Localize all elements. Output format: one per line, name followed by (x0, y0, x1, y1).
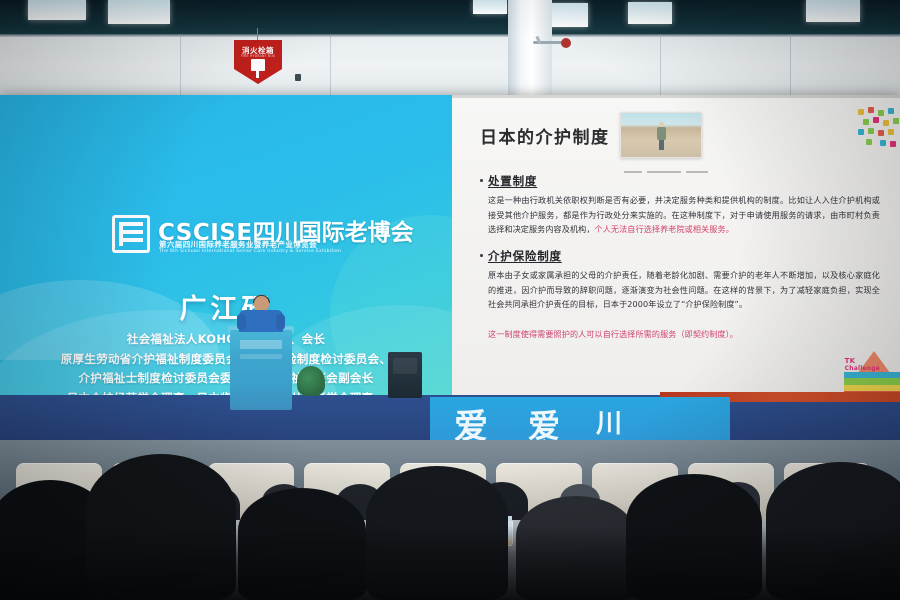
speaker-titles-list: 社会福祉法人KOHOEN创始人、会长 原厚生劳动省介护福祉制度委员会、介护保险制… (6, 330, 446, 395)
sign-hanging-wire (257, 28, 258, 42)
tk-challenge-label: TK Challenge (845, 357, 880, 373)
cscise-logo-mark-icon (112, 215, 150, 253)
foreground-attendee (626, 474, 762, 600)
foreground-attendee (366, 466, 508, 600)
cscise-logo: CSCISE四川国际老博会 第六届四川国际养老服务业暨养老产业博览会 The 6… (112, 213, 362, 259)
presenter-arm (237, 314, 246, 330)
section-2-body-text: 原本由子女或家属承担的父母的介护责任，随着老龄化加剧、需要介护的老年人不断增加，… (488, 270, 880, 309)
section-2-highlight: 这一制度使得需要照护的人可以自行选择所需的服务（即契约制度）。 (488, 329, 738, 339)
tk-brand-line-1: TK (845, 357, 880, 365)
podium-front-plate (240, 340, 282, 349)
tk-brand-line-2: Challenge (845, 365, 880, 373)
wall-device-box (295, 74, 301, 81)
section-2-body: 原本由子女或家属承担的父母的介护责任，随着老龄化加剧、需要介护的老年人不断增加，… (488, 268, 880, 312)
hydrant-icon (251, 59, 265, 71)
podium-front-plate-secondary (240, 354, 282, 359)
section-1-body: 这是一种由行政机关依职权判断是否有必要，并决定服务种类和提供机构的制度。比如让人… (488, 193, 880, 237)
section-2-highlight-line: 这一制度使得需要照护的人可以自行选择所需的服务（即契约制度）。 (488, 327, 880, 342)
ceiling-window (28, 0, 86, 20)
stage-plant (297, 366, 325, 396)
slide-title: 日本的介护制度 (480, 123, 610, 148)
conference-photo-scene: 消火栓箱 FIRE HYDRANT BOX CSCISE四川国际老博会 第六届四… (0, 0, 900, 600)
presenter-at-podium (237, 296, 285, 332)
banner-glyph: 川 (596, 403, 622, 440)
section-2-heading: 介护保险制度 (488, 248, 562, 264)
speaker-name: 广江研 (0, 287, 452, 326)
slide-right-panel: 日本的介护制度 处置制度 这是一种由行政机关依职权判断是否有必要，并决定服务种类… (452, 95, 900, 395)
slide-top-divider (452, 95, 900, 98)
section-1-highlight: 个人无法自行选择养老院或相关服务。 (595, 224, 734, 234)
foreground-attendee (766, 462, 900, 600)
sprinkler-pipe-icon (533, 36, 569, 50)
foreground-attendee (238, 488, 366, 600)
foreground-attendee (86, 454, 236, 600)
stage-loudspeaker (388, 352, 422, 398)
speaker-title-line: 原厚生劳动省介护福祉制度委员会、介护保险制度检讨委员会、 (6, 350, 446, 370)
speaker-title-line: 介护福祉士制度检讨委员会委员、社会福祉畅谈会副会长 (6, 369, 446, 389)
slide-left-panel: CSCISE四川国际老博会 第六届四川国际养老服务业暨养老产业博览会 The 6… (0, 95, 452, 395)
ceiling-window (806, 0, 860, 22)
presenter-arm (276, 314, 285, 330)
elderly-man-on-beach-photo (620, 112, 702, 158)
bullet-dot-icon (480, 254, 483, 257)
photo-caption-lines (624, 161, 744, 167)
speaker-title-line: 社会福祉法人KOHOEN创始人、会长 (6, 330, 446, 350)
fire-sign-sublabel: FIRE HYDRANT BOX (234, 54, 282, 58)
led-presentation-screen: CSCISE四川国际老博会 第六届四川国际养老服务业暨养老产业博览会 The 6… (0, 95, 900, 395)
section-1-heading: 处置制度 (488, 173, 537, 189)
foreground-attendee (516, 496, 636, 600)
person-figure (657, 122, 666, 150)
bullet-dot-icon (480, 179, 483, 182)
confetti-decoration (854, 107, 900, 159)
ceiling-window (108, 0, 170, 24)
ceiling-window (473, 0, 507, 14)
logo-subtitle-en: The 6th Sichuan International Senior Car… (159, 249, 341, 254)
ceiling-window (628, 2, 672, 24)
